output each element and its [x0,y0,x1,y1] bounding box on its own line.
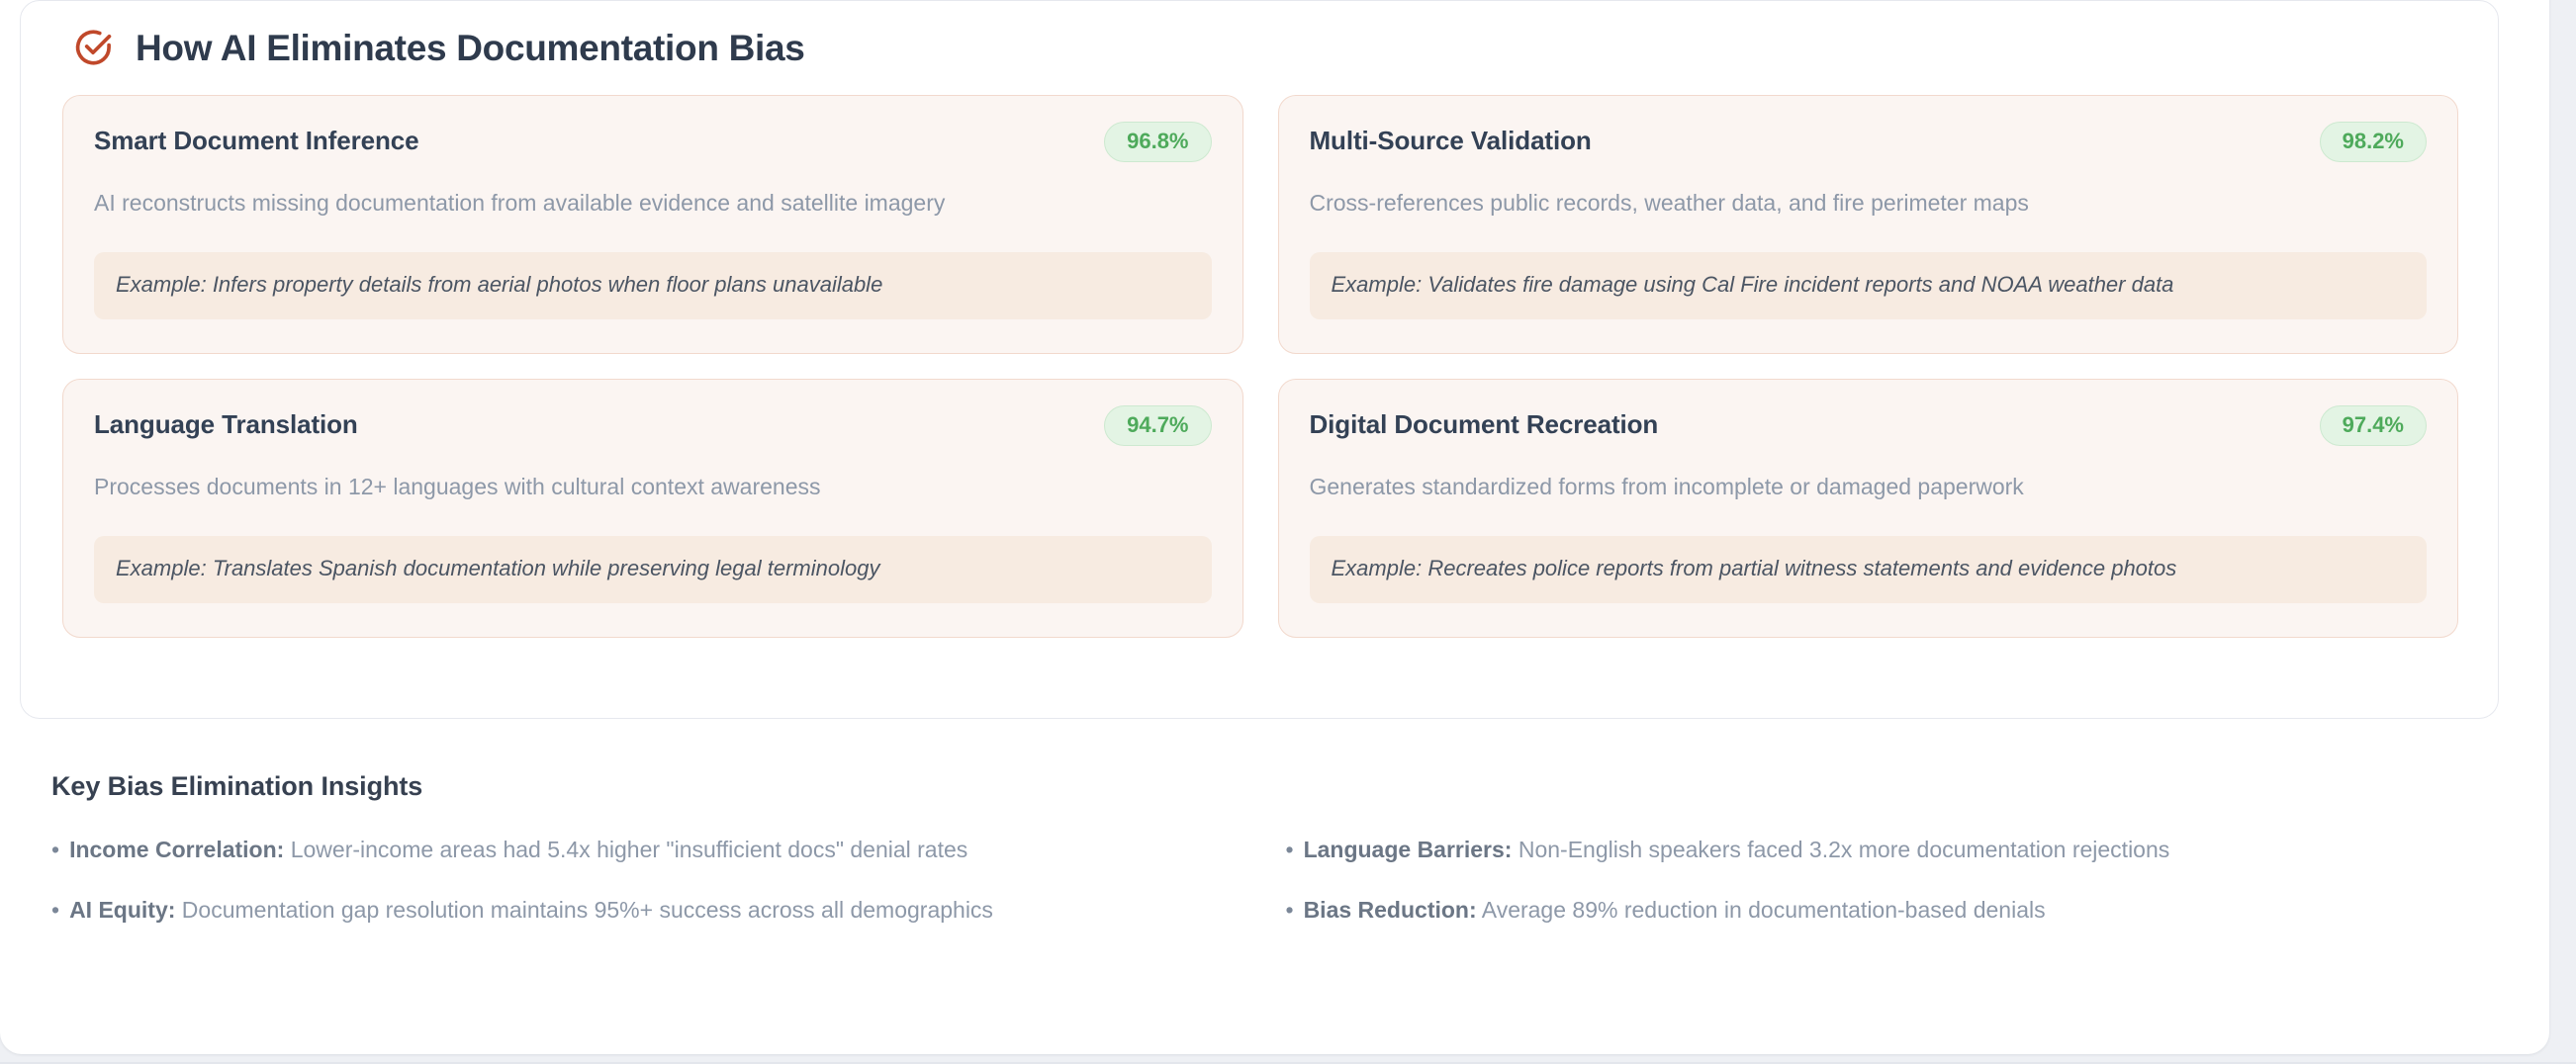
example-box: Example: Translates Spanish documentatio… [94,536,1212,603]
feature-title: Language Translation [94,405,358,440]
page-sheet: How AI Eliminates Documentation Bias Sma… [0,0,2549,1054]
example-box: Example: Infers property details from ae… [94,252,1212,319]
accuracy-badge: 96.8% [1104,122,1211,162]
feature-description: Generates standardized forms from incomp… [1310,472,2428,502]
feature-card-language-translation[interactable]: Language Translation 94.7% Processes doc… [62,379,1243,638]
accuracy-badge: 94.7% [1104,405,1211,446]
feature-card-digital-document-recreation[interactable]: Digital Document Recreation 97.4% Genera… [1278,379,2459,638]
feature-title: Multi-Source Validation [1310,122,1592,156]
feature-card-smart-document-inference[interactable]: Smart Document Inference 96.8% AI recons… [62,95,1243,354]
insights-heading: Key Bias Elimination Insights [51,771,2485,802]
insight-text: AI Equity: Documentation gap resolution … [69,895,993,926]
insight-value: Documentation gap resolution maintains 9… [182,897,993,923]
feature-description: AI reconstructs missing documentation fr… [94,188,1212,219]
ai-bias-section-card: How AI Eliminates Documentation Bias Sma… [20,0,2499,719]
insight-text: Bias Reduction: Average 89% reduction in… [1304,895,2046,926]
insight-item-income-correlation: • Income Correlation: Lower-income areas… [51,835,1251,865]
insight-item-ai-equity: • AI Equity: Documentation gap resolutio… [51,895,1251,926]
insight-label: Income Correlation: [69,837,284,862]
insight-text: Language Barriers: Non-English speakers … [1304,835,2170,865]
insight-label: Language Barriers: [1304,837,1513,862]
bullet-icon: • [1286,899,1294,922]
insight-text: Income Correlation: Lower-income areas h… [69,835,967,865]
example-text: Example: Recreates police reports from p… [1332,555,2406,583]
insight-label: Bias Reduction: [1304,897,1477,923]
feature-card-multi-source-validation[interactable]: Multi-Source Validation 98.2% Cross-refe… [1278,95,2459,354]
insight-item-language-barriers: • Language Barriers: Non-English speaker… [1286,835,2486,865]
example-text: Example: Translates Spanish documentatio… [116,555,1190,583]
insight-item-bias-reduction: • Bias Reduction: Average 89% reduction … [1286,895,2486,926]
feature-title: Smart Document Inference [94,122,418,156]
example-text: Example: Validates fire damage using Cal… [1332,271,2406,300]
example-text: Example: Infers property details from ae… [116,271,1190,300]
accuracy-badge: 97.4% [2320,405,2427,446]
insight-value: Lower-income areas had 5.4x higher "insu… [291,837,968,862]
feature-card-header: Multi-Source Validation 98.2% [1310,122,2428,162]
insight-value: Average 89% reduction in documentation-b… [1482,897,2046,923]
feature-card-header: Smart Document Inference 96.8% [94,122,1212,162]
insight-label: AI Equity: [69,897,175,923]
example-box: Example: Validates fire damage using Cal… [1310,252,2428,319]
accuracy-badge: 98.2% [2320,122,2427,162]
circle-check-icon [72,27,114,68]
feature-description: Cross-references public records, weather… [1310,188,2428,219]
feature-card-header: Digital Document Recreation 97.4% [1310,405,2428,446]
feature-card-header: Language Translation 94.7% [94,405,1212,446]
bullet-icon: • [51,839,59,861]
example-box: Example: Recreates police reports from p… [1310,536,2428,603]
page-title: How AI Eliminates Documentation Bias [136,30,805,66]
key-insights-section: Key Bias Elimination Insights • Income C… [51,771,2485,926]
feature-description: Processes documents in 12+ languages wit… [94,472,1212,502]
feature-title: Digital Document Recreation [1310,405,1659,440]
bullet-icon: • [51,899,59,922]
section-header: How AI Eliminates Documentation Bias [21,1,2498,68]
insight-value: Non-English speakers faced 3.2x more doc… [1518,837,2169,862]
feature-cards-grid: Smart Document Inference 96.8% AI recons… [62,95,2458,638]
bullet-icon: • [1286,839,1294,861]
insights-grid: • Income Correlation: Lower-income areas… [51,835,2485,926]
